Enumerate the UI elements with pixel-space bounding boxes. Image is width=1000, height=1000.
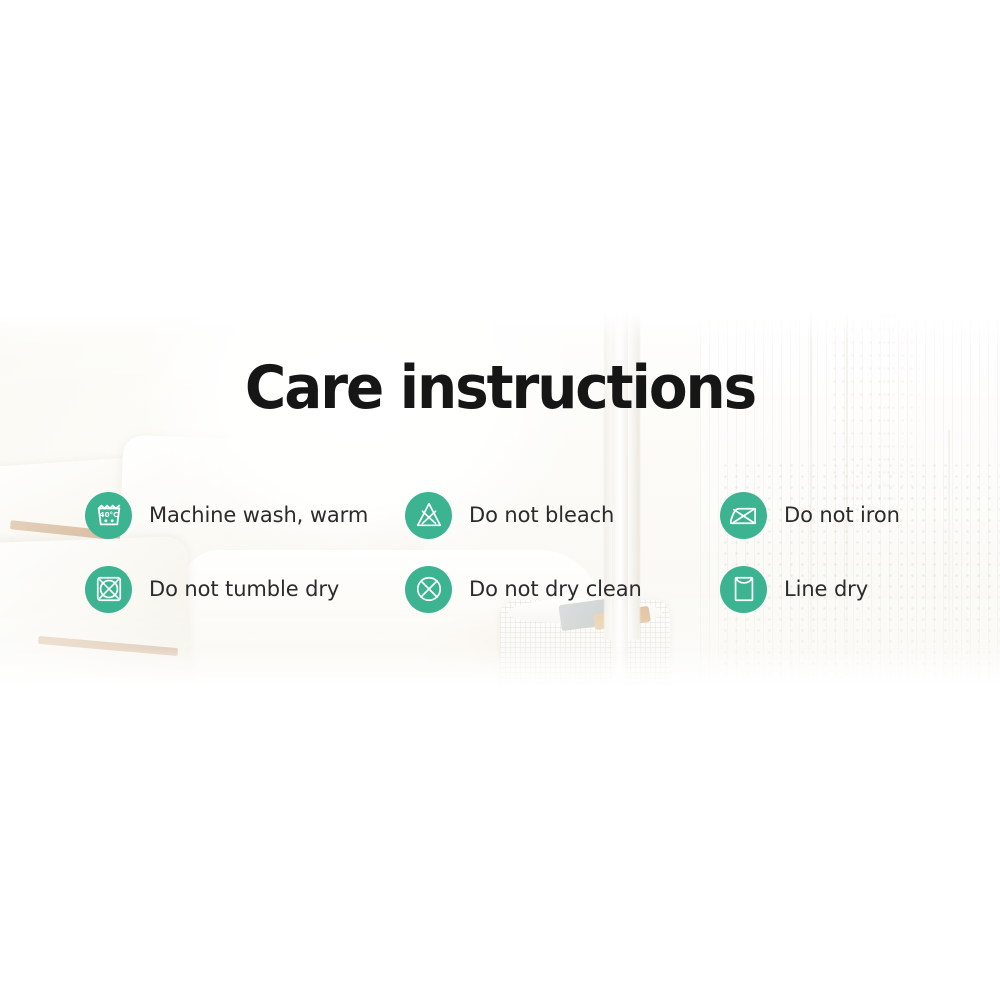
care-item-label: Do not dry clean — [469, 577, 642, 601]
care-item-do-not-tumble-dry: Do not tumble dry — [85, 566, 405, 613]
care-item-do-not-bleach: Do not bleach — [405, 492, 720, 539]
photo-bottom-fade — [0, 648, 1000, 688]
care-instructions-banner: Care instructions 40°C Machine wash, war… — [0, 0, 1000, 1000]
machine-wash-warm-icon: 40°C — [85, 492, 132, 539]
care-instructions-grid: 40°C Machine wash, warm Do not bleach — [85, 478, 995, 626]
care-item-label: Machine wash, warm — [149, 503, 368, 527]
page-title: Care instructions — [30, 358, 970, 418]
care-item-label: Line dry — [784, 577, 868, 601]
care-item-label: Do not iron — [784, 503, 900, 527]
svg-text:40°C: 40°C — [99, 510, 118, 519]
care-item-line-dry: Line dry — [720, 566, 995, 613]
care-item-machine-wash-warm: 40°C Machine wash, warm — [85, 492, 405, 539]
care-item-label: Do not tumble dry — [149, 577, 339, 601]
photo-top-fade — [0, 310, 1000, 340]
line-dry-icon — [720, 566, 767, 613]
care-item-do-not-dry-clean: Do not dry clean — [405, 566, 720, 613]
do-not-dry-clean-icon — [405, 566, 452, 613]
care-item-do-not-iron: Do not iron — [720, 492, 995, 539]
do-not-iron-icon — [720, 492, 767, 539]
do-not-bleach-icon — [405, 492, 452, 539]
do-not-tumble-dry-icon — [85, 566, 132, 613]
care-item-label: Do not bleach — [469, 503, 614, 527]
